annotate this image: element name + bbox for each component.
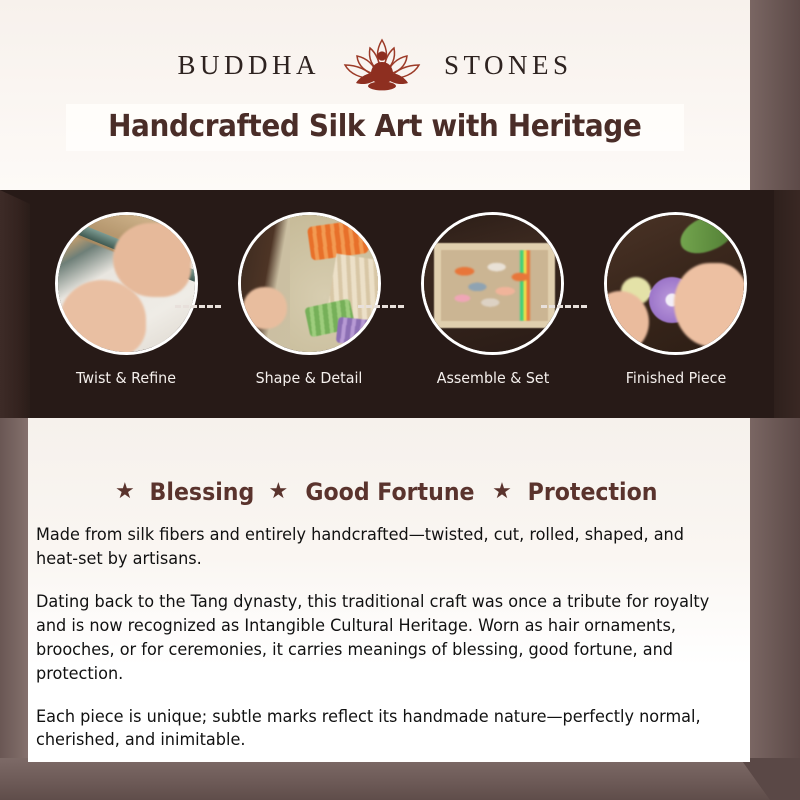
brand-header: BUDDHA (0, 0, 750, 190)
step-3-circle-wrap (421, 212, 564, 355)
step-4-photo (604, 212, 747, 355)
process-step-2: Shape & Detail (229, 190, 389, 387)
process-step-3: Assemble & Set (413, 190, 573, 387)
product-infographic: BUDDHA (0, 0, 800, 800)
step-3-photo (421, 212, 564, 355)
brand-word-left: BUDDHA (177, 50, 320, 81)
process-band: Twist & Refine (0, 190, 800, 418)
benefit-good-fortune: Good Fortune (306, 478, 475, 506)
frame-left-edge (0, 415, 30, 800)
brand-word-right: STONES (444, 50, 573, 81)
step-3-label: Assemble & Set (417, 369, 569, 387)
step-1-circle-wrap (55, 212, 198, 355)
process-step-1: Twist & Refine (46, 190, 206, 387)
description-paragraphs: Made from silk fibers and entirely handc… (36, 523, 748, 771)
band-right-fold (774, 190, 800, 418)
star-icon-2: ★ (269, 481, 289, 503)
step-4-circle-wrap (604, 212, 747, 355)
description-paragraph-1: Made from silk fibers and entirely handc… (36, 523, 730, 571)
page-title-panel: Handcrafted Silk Art with Heritage (66, 104, 684, 151)
process-step-4: Finished Piece (596, 190, 756, 387)
step-2-label: Shape & Detail (233, 369, 385, 387)
connector-dash-2 (358, 305, 404, 308)
benefit-blessing: Blessing (149, 478, 254, 506)
page-title: Handcrafted Silk Art with Heritage (108, 109, 641, 144)
description-section: ★ Blessing ★ Good Fortune ★ Protection M… (28, 418, 750, 762)
connector-dash-1 (175, 305, 221, 308)
description-paragraph-2: Dating back to the Tang dynasty, this tr… (36, 590, 730, 686)
brand-logo: BUDDHA (0, 34, 750, 96)
benefit-protection: Protection (528, 478, 658, 506)
description-paragraph-3: Each piece is unique; subtle marks refle… (36, 705, 730, 753)
star-icon-1: ★ (115, 481, 135, 503)
star-icon-3: ★ (492, 481, 512, 503)
connector-dash-3 (541, 305, 587, 308)
content-card: BUDDHA (28, 0, 750, 762)
step-4-label: Finished Piece (600, 369, 752, 387)
band-left-fold (0, 190, 30, 418)
step-1-photo (55, 212, 198, 355)
step-1-label: Twist & Refine (50, 369, 202, 387)
step-2-photo (238, 212, 381, 355)
benefits-row: ★ Blessing ★ Good Fortune ★ Protection (28, 478, 750, 506)
lotus-meditation-icon (336, 34, 428, 96)
page-title-wrap: Handcrafted Silk Art with Heritage (0, 104, 750, 151)
process-steps: Twist & Refine (28, 190, 774, 418)
step-2-circle-wrap (238, 212, 381, 355)
